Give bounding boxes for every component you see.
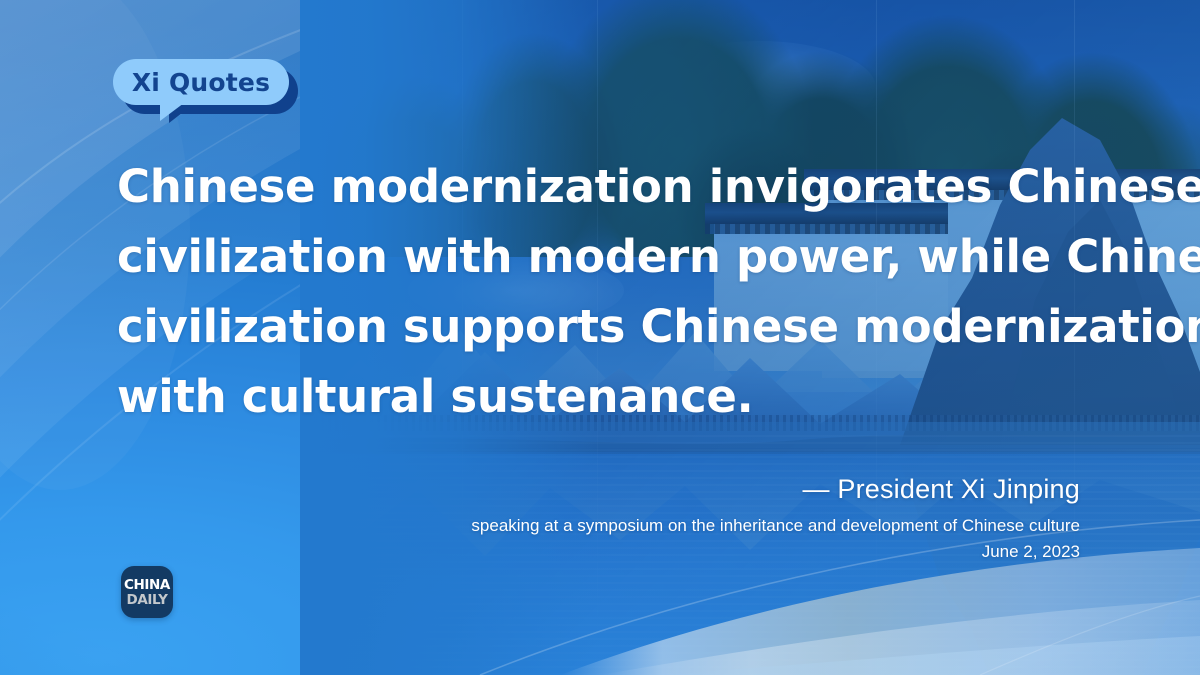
- quote-line: Chinese modernization invigorates Chines…: [117, 152, 1117, 222]
- quote-line: with cultural sustenance.: [117, 362, 1117, 432]
- logo-line-china: CHINA: [124, 578, 170, 592]
- quote-text: Chinese modernization invigorates Chines…: [117, 152, 1117, 432]
- quote-line: civilization with modern power, while Ch…: [117, 222, 1117, 292]
- attribution-author: — President Xi Jinping: [471, 472, 1080, 506]
- attribution-block: — President Xi Jinping speaking at a sym…: [471, 472, 1080, 564]
- attribution-occasion: speaking at a symposium on the inheritan…: [471, 512, 1080, 540]
- logo-line-daily: DAILY: [127, 593, 168, 607]
- xi-quotes-badge[interactable]: Xi Quotes: [113, 59, 298, 121]
- china-daily-logo[interactable]: CHINA DAILY: [121, 566, 173, 618]
- attribution-date: June 2, 2023: [471, 540, 1080, 564]
- badge-label: Xi Quotes: [113, 59, 289, 105]
- poster-canvas: Xi Quotes Chinese modernization invigora…: [0, 0, 1200, 675]
- quote-line: civilization supports Chinese modernizat…: [117, 292, 1117, 362]
